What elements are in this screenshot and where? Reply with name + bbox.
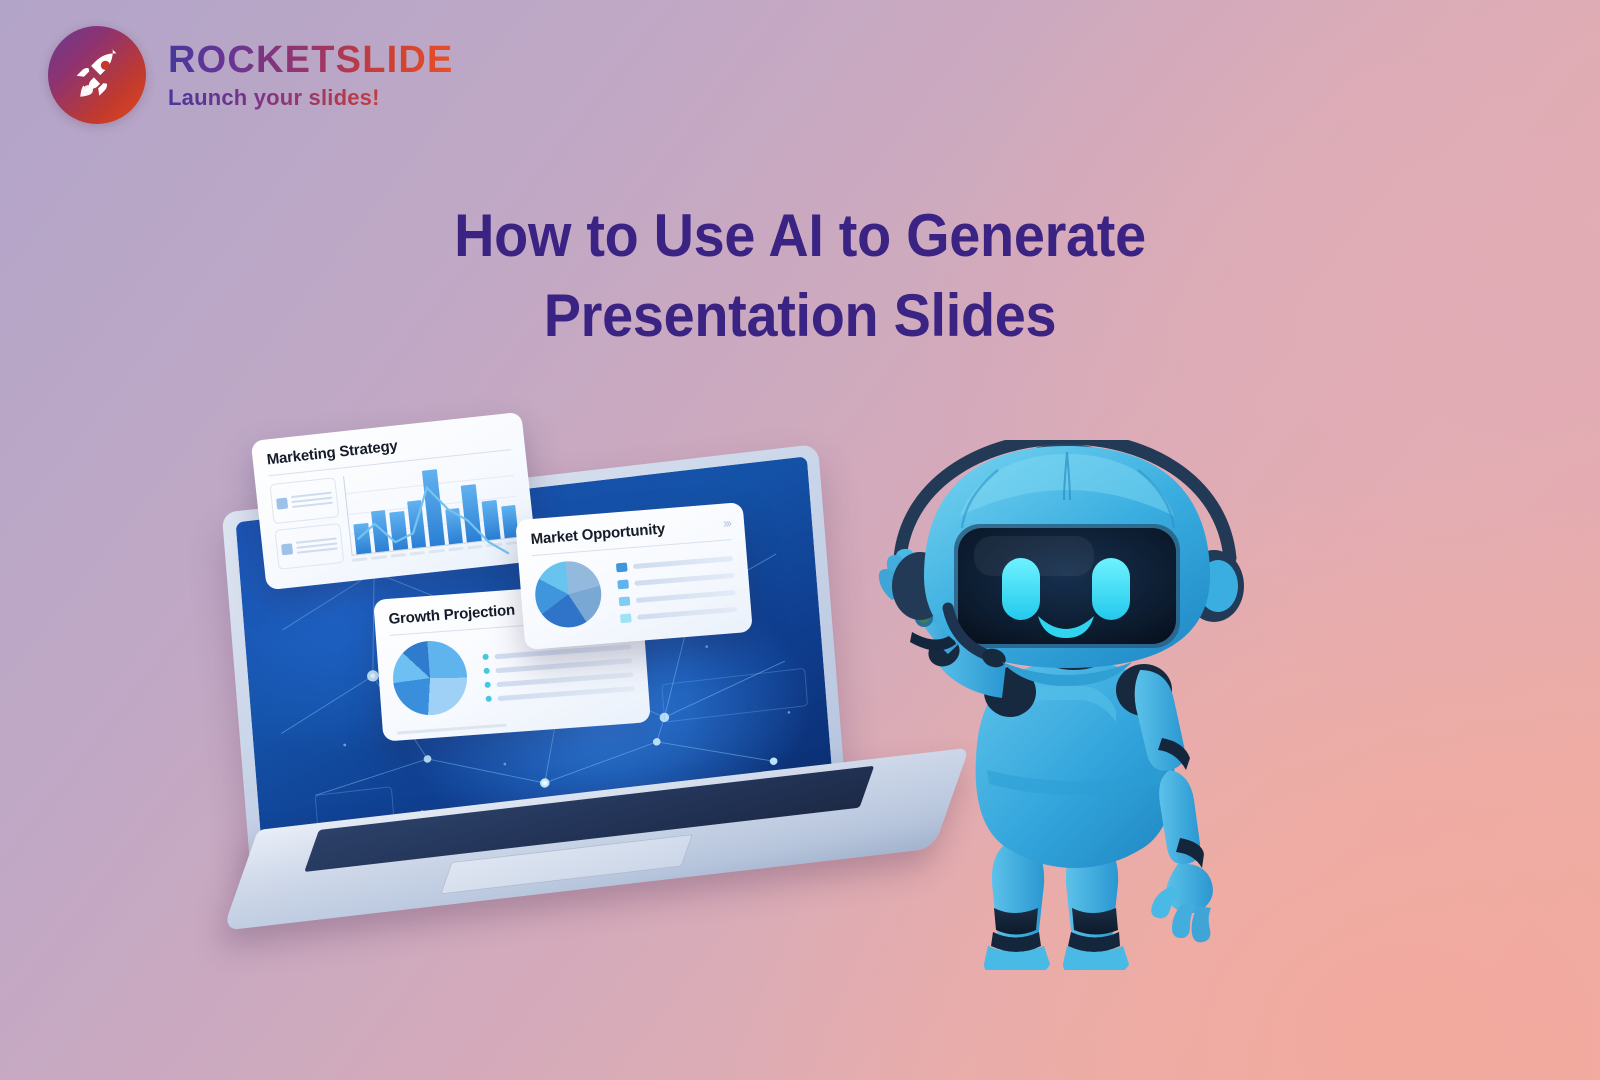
legend xyxy=(606,548,737,630)
text-lines xyxy=(296,537,338,553)
rocket-icon xyxy=(48,26,146,124)
bullet-icon xyxy=(483,668,489,674)
bullet-icon xyxy=(482,654,488,660)
ai-assistant-robot xyxy=(862,440,1282,970)
pie-chart xyxy=(390,638,469,717)
page-title: How to Use AI to Generate Presentation S… xyxy=(56,196,1544,356)
slide-card-title: Market Opportunity xyxy=(530,515,731,548)
legend-swatch xyxy=(617,579,629,589)
bar-chart xyxy=(343,458,521,556)
legend-item xyxy=(483,657,632,674)
legend-item xyxy=(617,571,734,589)
legend-swatch xyxy=(619,596,631,606)
bullet-icon xyxy=(485,696,491,702)
robot-hand-right xyxy=(1151,864,1213,943)
page-title-line-2: Presentation Slides xyxy=(544,282,1057,349)
robot-eye-right xyxy=(1092,558,1130,620)
pie-chart xyxy=(533,559,604,630)
legend-item xyxy=(620,605,737,623)
chevron-right-icon[interactable]: ››› xyxy=(722,515,730,531)
legend-swatch xyxy=(620,613,632,623)
slide-card-marketing-strategy[interactable]: Marketing Strategy xyxy=(251,412,538,590)
brand-name: ROCKETSLIDE xyxy=(168,40,454,80)
brand-logo[interactable]: ROCKETSLIDE Launch your slides! xyxy=(48,26,454,124)
slide-card-market-opportunity[interactable]: Market Opportunity ››› xyxy=(515,502,753,650)
bullet-icon xyxy=(484,682,490,688)
legend-item xyxy=(619,588,736,606)
chart-caption xyxy=(397,724,507,735)
legend-item xyxy=(616,554,733,572)
bullet-card-list xyxy=(269,477,344,570)
list-item xyxy=(269,477,339,524)
legend-item xyxy=(485,685,634,702)
thumbnail xyxy=(281,543,293,555)
robot-eye-left xyxy=(1002,558,1040,620)
legend-item xyxy=(484,671,633,688)
brand-tagline: Launch your slides! xyxy=(168,86,454,110)
legend-swatch xyxy=(616,563,628,573)
chart-area xyxy=(269,458,521,570)
thumbnail xyxy=(276,497,288,509)
list-item xyxy=(274,523,344,570)
chart-area xyxy=(533,548,738,636)
page-title-line-1: How to Use AI to Generate xyxy=(454,202,1146,269)
text-lines xyxy=(291,492,333,508)
